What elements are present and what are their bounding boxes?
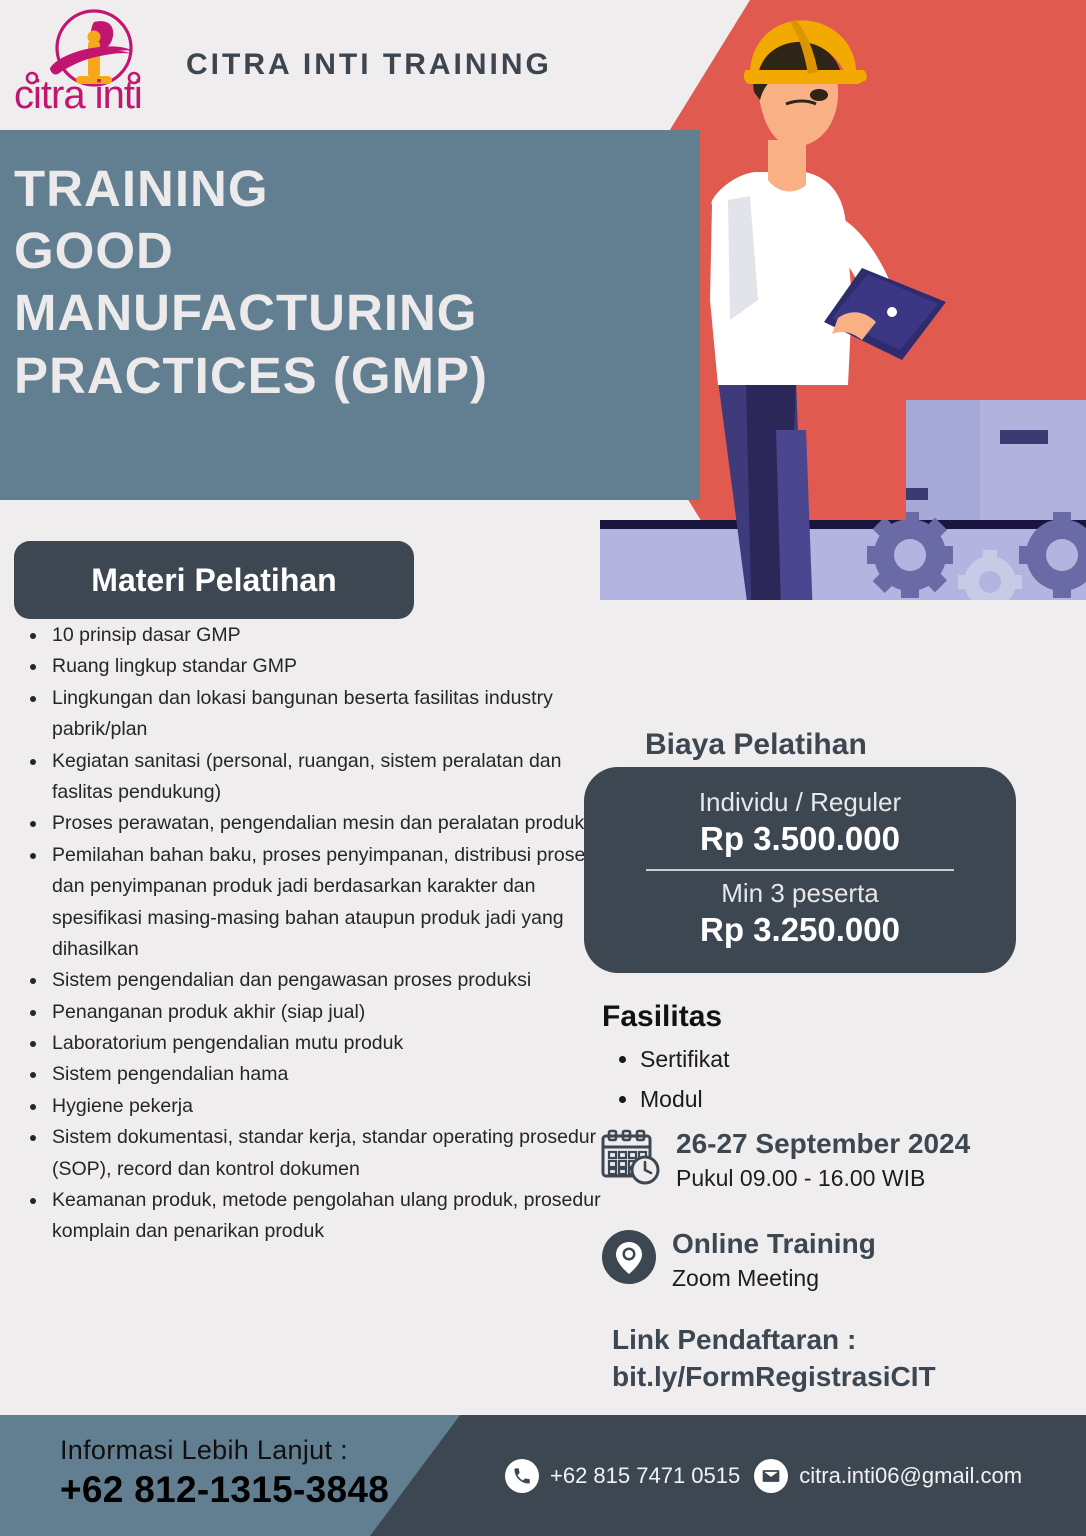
list-item: Sistem dokumentasi, standar kerja, stand…	[48, 1122, 608, 1185]
registration-label: Link Pendaftaran :	[612, 1322, 936, 1359]
location-row: Online Training Zoom Meeting	[600, 1228, 876, 1294]
title-line-1: TRAINING	[14, 158, 634, 220]
materi-heading-label: Materi Pelatihan	[91, 562, 336, 599]
schedule-date: 26-27 September 2024	[676, 1128, 970, 1160]
title-line-3: MANUFACTURING	[14, 282, 634, 344]
price-tier2-label: Min 3 peserta	[721, 879, 879, 909]
price-tier1-value: Rp 3.500.000	[700, 818, 900, 861]
list-item: Laboratorium pengendalian mutu produk	[48, 1028, 608, 1059]
list-item: Keamanan produk, metode pengolahan ulang…	[48, 1185, 608, 1248]
location-platform: Zoom Meeting	[672, 1263, 876, 1294]
footer-email-contact[interactable]: citra.inti06@gmail.com	[754, 1459, 1022, 1493]
poster-root: citra inti CITRA INTI TRAINING	[0, 0, 1086, 1536]
footer-phone-contact[interactable]: +62 815 7471 0515	[505, 1459, 740, 1493]
envelope-icon	[754, 1459, 788, 1493]
schedule-row: 26-27 September 2024 Pukul 09.00 - 16.00…	[600, 1128, 970, 1194]
svg-text:citra inti: citra inti	[14, 73, 142, 116]
fasilitas-list: SertifikatModul	[608, 1040, 729, 1119]
price-divider	[646, 869, 954, 871]
materi-list: 10 prinsip dasar GMP Ruang lingkup stand…	[18, 620, 608, 1248]
citra-inti-logo: citra inti	[12, 4, 172, 116]
footer-email-text: citra.inti06@gmail.com	[799, 1463, 1022, 1489]
fasilitas-heading: Fasilitas	[602, 1000, 722, 1034]
list-item: Modul	[640, 1080, 729, 1120]
footer-phone-text: +62 815 7471 0515	[550, 1463, 740, 1489]
location-mode: Online Training	[672, 1228, 876, 1260]
list-item: Penanganan produk akhir (siap jual)	[48, 997, 608, 1028]
footer-info: Informasi Lebih Lanjut : +62 812-1315-38…	[60, 1435, 389, 1511]
price-box: Individu / Reguler Rp 3.500.000 Min 3 pe…	[584, 767, 1016, 973]
schedule-text: 26-27 September 2024 Pukul 09.00 - 16.00…	[676, 1128, 970, 1194]
list-item: Kegiatan sanitasi (personal, ruangan, si…	[48, 746, 608, 809]
location-text: Online Training Zoom Meeting	[672, 1228, 876, 1294]
price-tier2-value: Rp 3.250.000	[700, 909, 900, 952]
poster-footer: Informasi Lebih Lanjut : +62 812-1315-38…	[0, 1415, 1086, 1536]
map-pin-icon	[600, 1228, 658, 1291]
list-item: Sertifikat	[640, 1040, 729, 1080]
registration-link[interactable]: bit.ly/FormRegistrasiCIT	[612, 1359, 936, 1396]
list-item: Hygiene pekerja	[48, 1091, 608, 1122]
title-line-4: PRACTICES (GMP)	[14, 345, 634, 407]
schedule-time: Pukul 09.00 - 16.00 WIB	[676, 1163, 970, 1194]
list-item: Sistem pengendalian hama	[48, 1059, 608, 1090]
list-item: Sistem pengendalian dan pengawasan prose…	[48, 965, 608, 996]
footer-contacts: +62 815 7471 0515 citra.inti06@gmail.com	[505, 1459, 1022, 1493]
footer-info-label: Informasi Lebih Lanjut :	[60, 1435, 389, 1466]
logo-icon: citra inti	[12, 4, 172, 116]
poster-title: TRAINING GOOD MANUFACTURING PRACTICES (G…	[14, 158, 634, 407]
list-item: 10 prinsip dasar GMP	[48, 620, 608, 651]
title-line-2: GOOD	[14, 220, 634, 282]
price-tier1-label: Individu / Reguler	[699, 788, 901, 818]
biaya-heading: Biaya Pelatihan	[645, 728, 867, 762]
list-item: Pemilahan bahan baku, proses penyimpanan…	[48, 840, 608, 966]
list-item: Proses perawatan, pengendalian mesin dan…	[48, 808, 608, 839]
calendar-clock-icon	[600, 1128, 662, 1191]
brand-title: CITRA INTI TRAINING	[186, 48, 552, 82]
list-item: Ruang lingkup standar GMP	[48, 651, 608, 682]
footer-info-phone: +62 812-1315-3848	[60, 1469, 389, 1511]
materi-pelatihan-heading: Materi Pelatihan	[14, 541, 414, 619]
list-item: Lingkungan dan lokasi bangunan beserta f…	[48, 683, 608, 746]
phone-icon	[505, 1459, 539, 1493]
registration-block: Link Pendaftaran : bit.ly/FormRegistrasi…	[612, 1322, 936, 1396]
